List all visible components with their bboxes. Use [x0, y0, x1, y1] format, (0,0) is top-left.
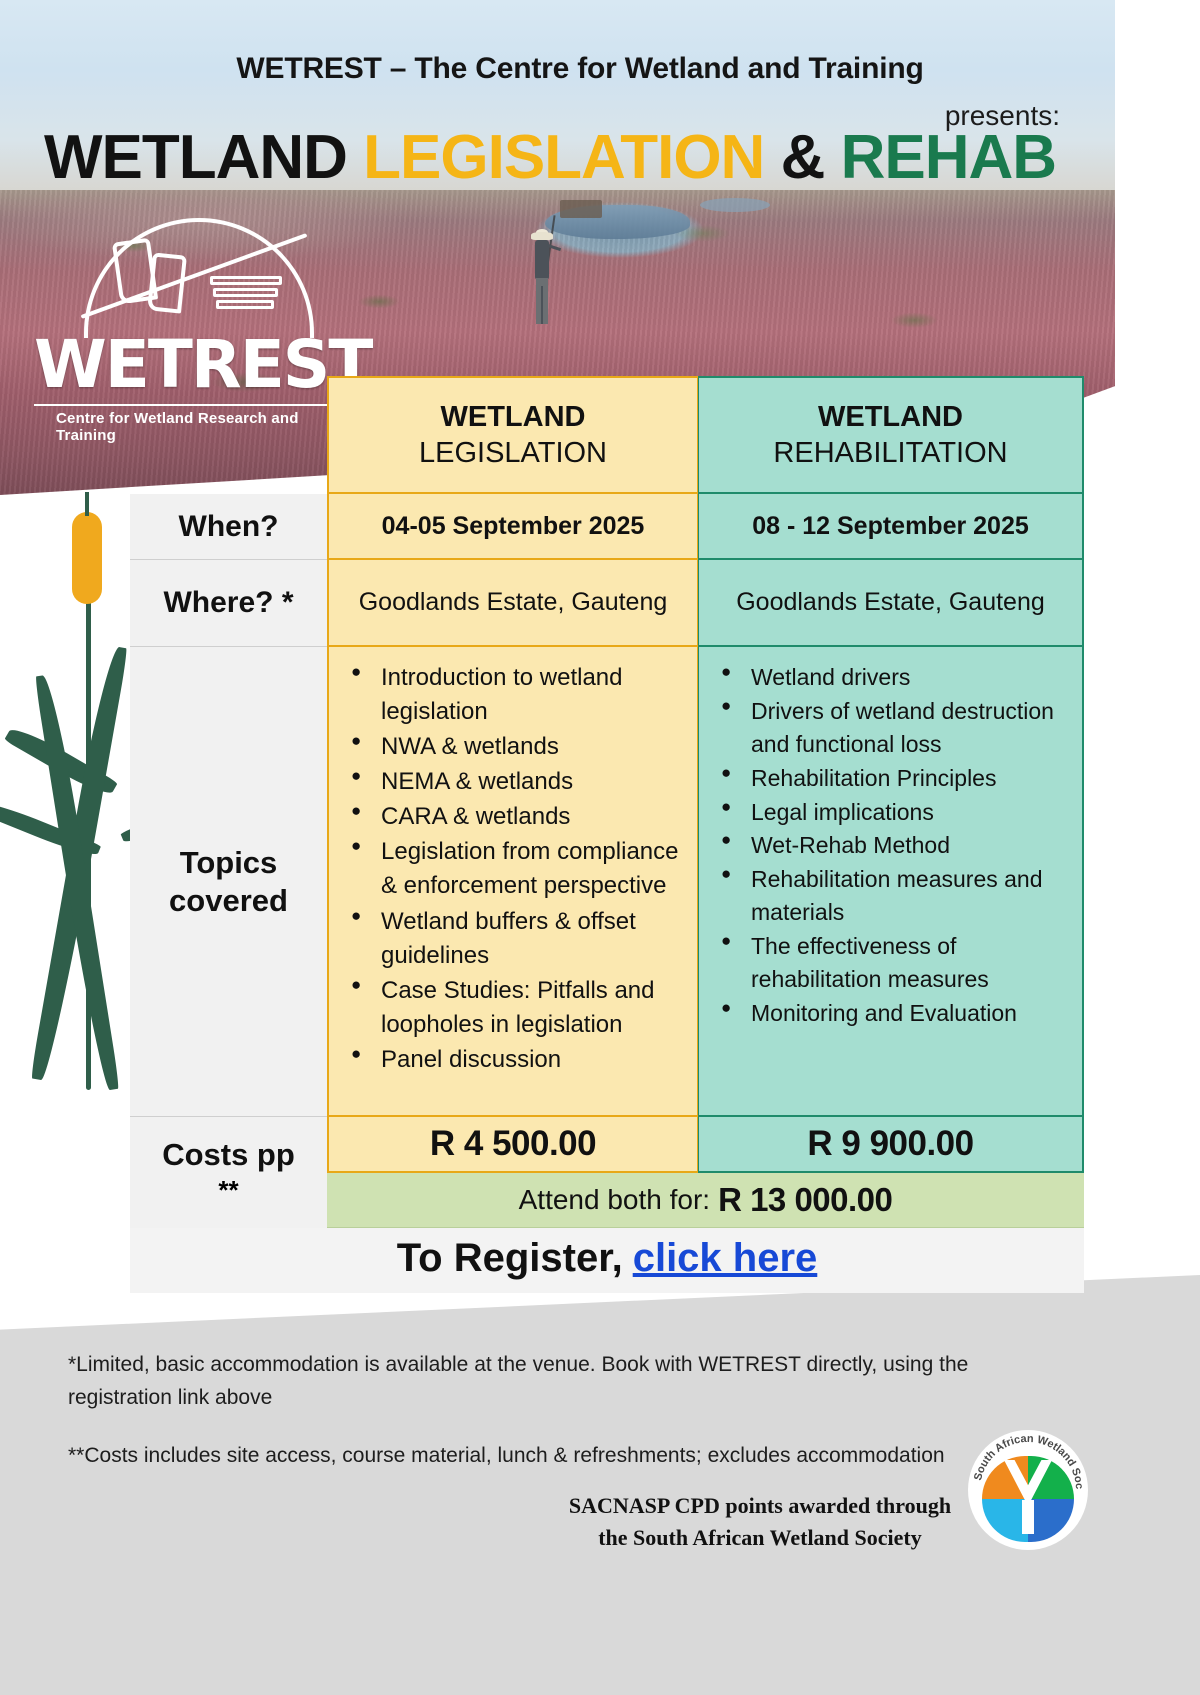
row-label-where: Where? * [130, 560, 327, 647]
list-item: Panel discussion [345, 1043, 685, 1077]
topics-rehabilitation: Wetland drivers Drivers of wetland destr… [698, 647, 1084, 1117]
list-item: Wetland drivers [715, 661, 1070, 694]
table-row-topics: Topics covered Introduction to wetland l… [130, 647, 1084, 1117]
cost-legislation: R 4 500.00 [327, 1117, 698, 1173]
where-legislation: Goodlands Estate, Gauteng [327, 560, 698, 647]
register-link[interactable]: click here [633, 1236, 818, 1281]
list-item: NEMA & wetlands [345, 765, 685, 799]
topics-legislation-list: Introduction to wetland legislation NWA … [329, 647, 697, 1092]
costs-label-asterisks: ** [130, 1173, 327, 1228]
register-label: To Register, [397, 1236, 623, 1281]
footnote-accommodation: *Limited, basic accommodation is availab… [68, 1349, 998, 1414]
course-comparison-table: WETLAND LEGISLATION WETLAND REHABILITATI… [130, 376, 1084, 1293]
list-item: Legal implications [715, 796, 1070, 829]
south-african-wetland-society-logo: South African Wetland Society [968, 1430, 1088, 1550]
row-label-costs: Costs pp [130, 1117, 327, 1173]
title-word-wetland: WETLAND [44, 123, 347, 192]
sacnasp-credit: SACNASP CPD points awarded through the S… [545, 1490, 975, 1554]
list-item: Wetland buffers & offset guidelines [345, 905, 685, 973]
row-label-topics: Topics covered [130, 647, 327, 1117]
organisation-title: WETREST – The Centre for Wetland and Tra… [0, 52, 1160, 86]
header-legislation: WETLAND LEGISLATION [327, 376, 698, 494]
sacnasp-line-2: the South African Wetland Society [545, 1522, 975, 1554]
when-rehabilitation: 08 - 12 September 2025 [698, 494, 1084, 560]
header-spacer [130, 376, 327, 494]
table-row-costs: Costs pp R 4 500.00 R 9 900.00 [130, 1117, 1084, 1173]
table-row-attend-both: ** Attend both for: R 13 000.00 [130, 1173, 1084, 1228]
table-row: Where? * Goodlands Estate, Gauteng Goodl… [130, 560, 1084, 647]
row-label-when: When? [130, 494, 327, 560]
footnote-costs: **Costs includes site access, course mat… [68, 1440, 998, 1473]
table-row: When? 04-05 September 2025 08 - 12 Septe… [130, 494, 1084, 560]
list-item: Wet-Rehab Method [715, 829, 1070, 862]
attend-both-cell: Attend both for: R 13 000.00 [327, 1173, 1084, 1228]
list-item: NWA & wetlands [345, 730, 685, 764]
person-figure [525, 232, 559, 342]
logo-boot-icon-2 [147, 252, 187, 313]
list-item: Legislation from compliance & enforcemen… [345, 835, 685, 903]
sacnasp-line-1: SACNASP CPD points awarded through [545, 1490, 975, 1522]
list-item: Monitoring and Evaluation [715, 997, 1070, 1030]
title-word-rehab: REHAB [841, 123, 1056, 192]
list-item: Drivers of wetland destruction and funct… [715, 695, 1070, 761]
machinery-silhouette [560, 200, 602, 218]
list-item: Rehabilitation Principles [715, 762, 1070, 795]
page-title: WETLAND LEGISLATION & REHAB [0, 122, 1100, 193]
table-header-row: WETLAND LEGISLATION WETLAND REHABILITATI… [130, 376, 1084, 494]
list-item: The effectiveness of rehabilitation meas… [715, 930, 1070, 996]
cattail-icon [72, 512, 102, 604]
footnotes: *Limited, basic accommodation is availab… [68, 1349, 1008, 1499]
title-word-legislation: LEGISLATION [363, 123, 764, 192]
topics-legislation: Introduction to wetland legislation NWA … [327, 647, 698, 1117]
logo-books-icon [210, 276, 282, 318]
header-rehabilitation: WETLAND REHABILITATION [698, 376, 1084, 494]
list-item: Case Studies: Pitfalls and loopholes in … [345, 974, 685, 1042]
pond-water-secondary [700, 198, 770, 212]
badge-y-shape-icon [1004, 1460, 1052, 1538]
cost-rehabilitation: R 9 900.00 [698, 1117, 1084, 1173]
poster-root: WETREST – The Centre for Wetland and Tra… [0, 0, 1200, 1695]
where-rehabilitation: Goodlands Estate, Gauteng [698, 560, 1084, 647]
list-item: Rehabilitation measures and materials [715, 863, 1070, 929]
topics-rehabilitation-list: Wetland drivers Drivers of wetland destr… [699, 647, 1082, 1045]
attend-both-label: Attend both for: [519, 1184, 710, 1216]
attend-both-price: R 13 000.00 [718, 1181, 892, 1219]
register-row: To Register, click here [130, 1228, 1084, 1293]
list-item: CARA & wetlands [345, 800, 685, 834]
title-ampersand: & [781, 123, 825, 192]
list-item: Introduction to wetland legislation [345, 661, 685, 729]
when-legislation: 04-05 September 2025 [327, 494, 698, 560]
